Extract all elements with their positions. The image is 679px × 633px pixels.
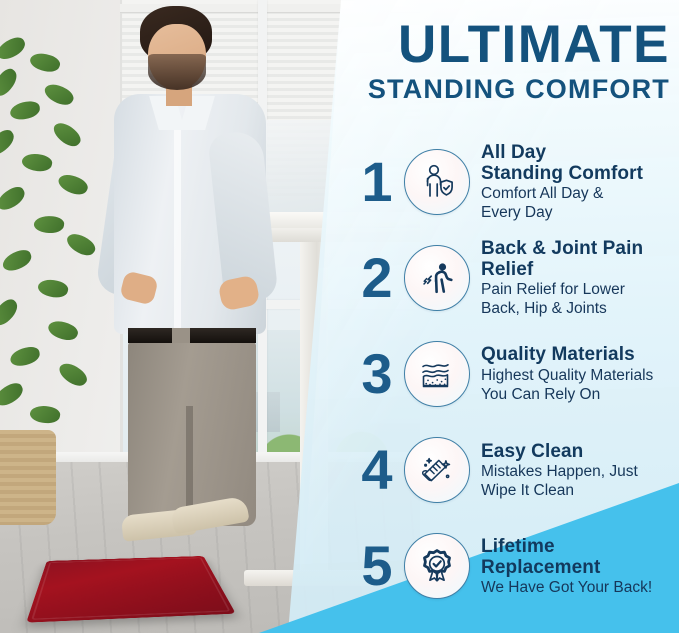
feature-item-all-day-standing-comfort: 1 All Day Standing Comfort Comfort All D… bbox=[352, 134, 679, 230]
wiping-hand-sparkle-icon bbox=[404, 437, 470, 503]
feature-text: Lifetime Replacement We Have Got Your Ba… bbox=[479, 536, 679, 597]
feature-sub-line-1: Comfort All Day & bbox=[481, 185, 679, 203]
back-pain-person-icon bbox=[404, 245, 470, 311]
product-infographic: ULTIMATE STANDING COMFORT 1 All Day Stan… bbox=[0, 0, 679, 633]
feature-text: All Day Standing Comfort Comfort All Day… bbox=[479, 142, 679, 222]
feature-item-quality-materials: 3 Quality Materials bbox=[352, 326, 679, 422]
person-standing bbox=[88, 6, 293, 566]
feature-heading-line-1: All Day bbox=[481, 142, 679, 163]
feature-sub-line-1: We Have Got Your Back! bbox=[481, 579, 679, 597]
feature-text: Quality Materials Highest Quality Materi… bbox=[479, 344, 679, 404]
feature-item-easy-clean: 4 Easy Clean Mistakes Happen, Just Wipe … bbox=[352, 422, 679, 518]
feature-item-lifetime-replacement: 5 Lifetime Replacement We Have Got Your … bbox=[352, 518, 679, 614]
feature-sub-line-2: You Can Rely On bbox=[481, 386, 679, 404]
feature-number: 3 bbox=[354, 346, 400, 402]
feature-sub-line-2: Every Day bbox=[481, 204, 679, 222]
award-badge-check-icon bbox=[404, 533, 470, 599]
person-shield-icon bbox=[404, 149, 470, 215]
feature-sub-line-1: Pain Relief for Lower bbox=[481, 281, 679, 299]
feature-sub-line-1: Mistakes Happen, Just bbox=[481, 463, 679, 481]
feature-number: 4 bbox=[354, 442, 400, 498]
headline-line-2: STANDING COMFORT bbox=[300, 71, 670, 107]
feature-text: Back & Joint Pain Relief Pain Relief for… bbox=[479, 238, 679, 318]
feature-heading-line-1: Back & Joint Pain bbox=[481, 238, 679, 259]
foam-layers-icon bbox=[404, 341, 470, 407]
feature-heading-line-1: Quality Materials bbox=[481, 344, 679, 366]
feature-number: 5 bbox=[354, 538, 400, 594]
headline-line-1: ULTIMATE bbox=[300, 18, 670, 71]
feature-number: 2 bbox=[354, 250, 400, 306]
feature-item-back-joint-pain-relief: 2 Back & Joint Pain Relief Pain Relief f… bbox=[352, 230, 679, 326]
feature-sub-line-2: Back, Hip & Joints bbox=[481, 300, 679, 318]
feature-sub-line-2: Wipe It Clean bbox=[481, 482, 679, 500]
feature-heading-line-2: Relief bbox=[481, 259, 679, 280]
feature-heading-line-2: Replacement bbox=[481, 557, 679, 578]
page-title: ULTIMATE STANDING COMFORT bbox=[300, 18, 670, 107]
feature-text: Easy Clean Mistakes Happen, Just Wipe It… bbox=[479, 441, 679, 500]
plant-pot bbox=[0, 430, 56, 525]
feature-heading-line-1: Lifetime bbox=[481, 536, 679, 557]
feature-sub-line-1: Highest Quality Materials bbox=[481, 367, 679, 385]
feature-heading-line-2: Standing Comfort bbox=[481, 163, 679, 184]
feature-list: 1 All Day Standing Comfort Comfort All D… bbox=[352, 134, 679, 614]
feature-number: 1 bbox=[354, 154, 400, 210]
feature-heading-line-1: Easy Clean bbox=[481, 441, 679, 462]
belt bbox=[128, 328, 256, 343]
